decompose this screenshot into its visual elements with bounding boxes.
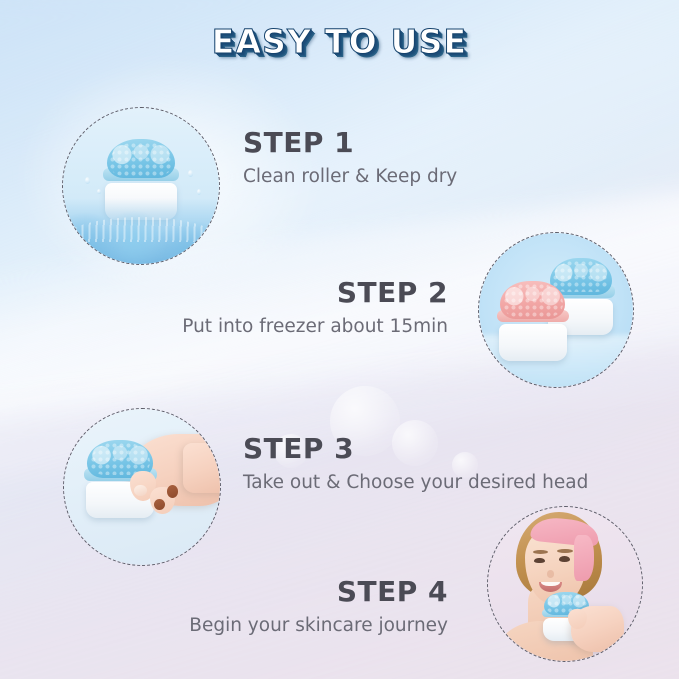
step-2-description: Put into freezer about 15min [182, 315, 448, 340]
hand-fingernail-3 [167, 485, 178, 497]
step-4-description: Begin your skincare journey [182, 614, 448, 639]
woman-eye-right [559, 556, 570, 562]
step-2-text-block: STEP 2 Put into freezer about 15min [182, 278, 448, 340]
device-base [499, 324, 567, 361]
water-droplet-2 [97, 189, 101, 194]
hand-fingernail-1 [134, 485, 146, 496]
page-title: EASY TO USE [212, 22, 468, 61]
water-droplet-3 [188, 170, 193, 177]
device-roller-head [500, 281, 565, 319]
pink-and-blue-rollers-in-freezer-photo [479, 233, 633, 387]
pink-headband-side [574, 535, 594, 581]
water-splash-graphic [63, 198, 219, 264]
water-droplet-4 [197, 189, 201, 195]
step-4-image-medallion [487, 506, 643, 662]
step-3-text-block: STEP 3 Take out & Choose your desired he… [243, 434, 588, 496]
hand-wrist [183, 443, 220, 493]
woman-eye-left [534, 558, 545, 564]
step-4-heading: STEP 4 [182, 577, 448, 608]
device-roller-head [107, 139, 176, 178]
easy-to-use-infographic: EASY TO USE STEP 1 Clean roller & Keep d… [0, 0, 679, 679]
step-1-heading: STEP 1 [243, 128, 457, 159]
woman-eyebrow-right [557, 549, 572, 553]
ice-roller-device-pink [499, 281, 567, 361]
hand-holding-roller-photo [64, 409, 220, 565]
woman-finger [568, 609, 586, 629]
step-3-description: Take out & Choose your desired head [243, 471, 588, 496]
step-1-description: Clean roller & Keep dry [243, 165, 457, 190]
step-4-text-block: STEP 4 Begin your skincare journey [182, 577, 448, 639]
woman-nose [547, 570, 555, 578]
step-3-image-medallion [63, 408, 221, 566]
water-droplet-1 [85, 177, 90, 184]
woman-using-roller-on-face-photo [488, 507, 642, 661]
step-1-image-medallion [62, 107, 220, 265]
title-container: EASY TO USE [0, 22, 679, 61]
step-1-text-block: STEP 1 Clean roller & Keep dry [243, 128, 457, 190]
step-2-heading: STEP 2 [182, 278, 448, 309]
step-2-image-medallion [478, 232, 634, 388]
step-3-heading: STEP 3 [243, 434, 588, 465]
blue-roller-with-water-splash-photo [63, 108, 219, 264]
